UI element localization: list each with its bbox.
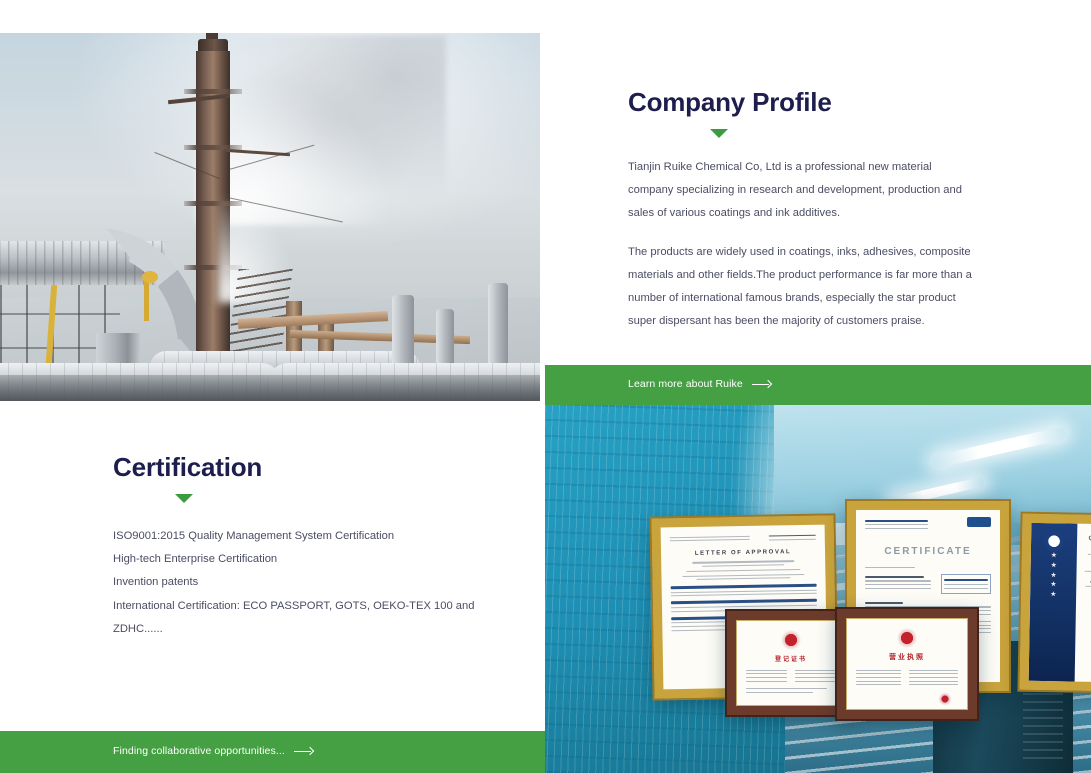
collaboration-label: Finding collaborative opportunities... [113,745,285,757]
certificate-title: 登记证书 [746,654,836,663]
certificate-business-license: 营业执照 [837,609,977,719]
list-item: Invention patents [113,571,513,594]
list-item: ISO9001:2015 Quality Management System C… [113,525,513,548]
page-title-company-profile: Company Profile [628,88,980,118]
list-item: International Certification: ECO PASSPOR… [113,595,513,642]
learn-more-link[interactable]: Learn more about Ruike [628,378,772,390]
learn-more-banner[interactable]: Learn more about Ruike [545,365,1091,405]
brochure-page: Company Profile Tianjin Ruike Chemical C… [0,0,1091,773]
profile-paragraph-1: Tianjin Ruike Chemical Co, Ltd is a prof… [628,156,980,225]
cqm-badge-icon [1044,531,1064,551]
certificate-title: 营业执照 [856,652,958,662]
certification-list: ISO9001:2015 Quality Management System C… [113,525,513,641]
certificate-quality-management: ★★★★★ Quality Management System Certific… [1019,514,1091,693]
valve-wheel [142,271,158,283]
certificate-side-band: ★★★★★ [1029,523,1078,682]
triangle-accent-icon [710,129,728,138]
collaboration-banner[interactable]: Finding collaborative opportunities... [0,731,545,773]
profile-paragraph-2: The products are widely used in coatings… [628,241,980,333]
certificate-content: ★★★★★ Quality Management System Certific… [1029,523,1091,683]
national-emblem-icon [897,628,917,648]
arrow-right-icon [294,747,314,755]
company-profile-section: Company Profile Tianjin Ruike Chemical C… [628,88,980,333]
learn-more-label: Learn more about Ruike [628,378,743,390]
tower-platform [184,89,242,94]
plant-photo [0,33,540,401]
arrow-right-icon [752,380,772,388]
certificate-title: CERTIFICATE [865,546,991,557]
list-item: High-tech Enterprise Certification [113,548,513,571]
collaboration-link[interactable]: Finding collaborative opportunities... [113,745,314,757]
certification-section: Certification ISO9001:2015 Quality Manag… [113,453,513,641]
oeko-tex-logo-icon [967,517,991,527]
factory-certificates-photo: LETTER OF APPROVAL CERT [545,405,1091,773]
certificate-registration: 登记证书 [727,611,855,715]
star-decoration-icon: ★★★★★ [1030,551,1077,601]
national-emblem-icon [781,630,801,650]
page-title-certification: Certification [113,453,513,483]
triangle-accent-icon [175,494,193,503]
certificate-content: 登记证书 [736,620,846,706]
yellow-post [144,281,149,321]
certificate-title: LETTER OF APPROVAL [670,549,816,558]
certificate-content: 营业执照 [846,618,968,710]
certificate-seal-icon [938,692,952,706]
certificate-title: Quality Management System Certificate [1080,536,1091,549]
ground-shadow [0,375,540,401]
